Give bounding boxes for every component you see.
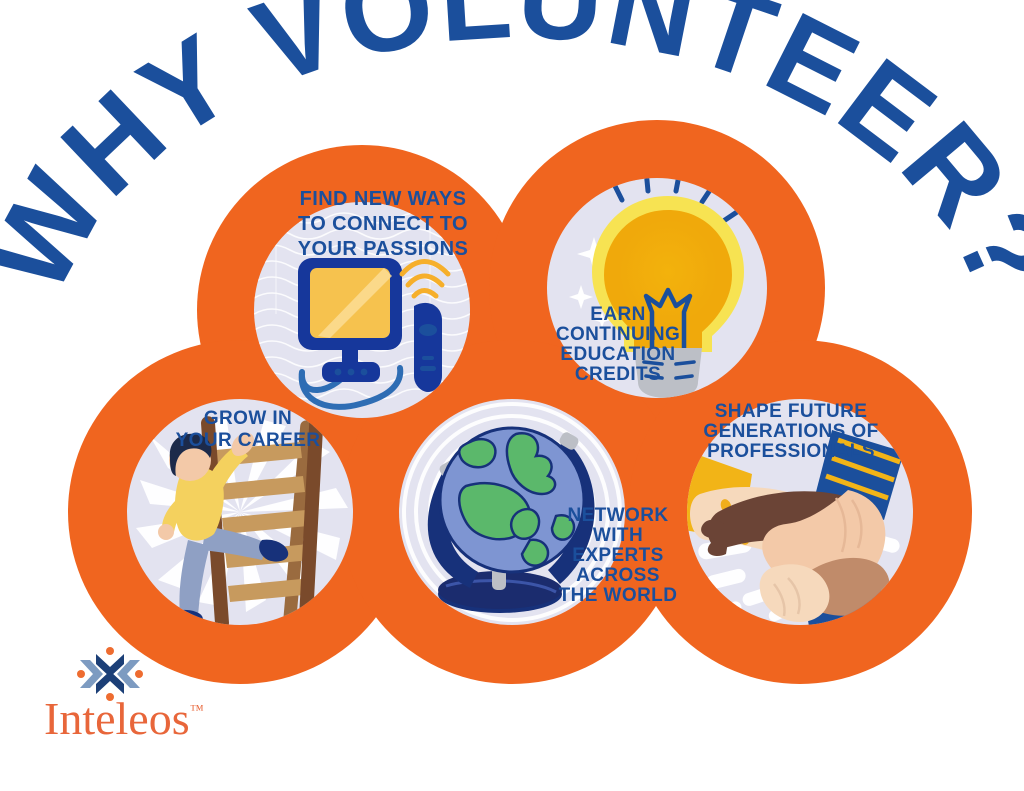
trademark-symbol: ™ [190,703,204,718]
page-title-textpath: WHY VOLUNTEER? [0,0,1024,312]
inteleos-logo-svg: Inteleos ™ [44,642,224,742]
infographic-canvas: FIND NEW WAYS TO CONNECT TO YOUR PASSION… [0,0,1024,791]
page-title-text: WHY VOLUNTEER? [0,0,1024,312]
inteleos-logo[interactable]: Inteleos ™ [44,642,224,742]
inteleos-wordmark: Inteleos [44,693,190,742]
